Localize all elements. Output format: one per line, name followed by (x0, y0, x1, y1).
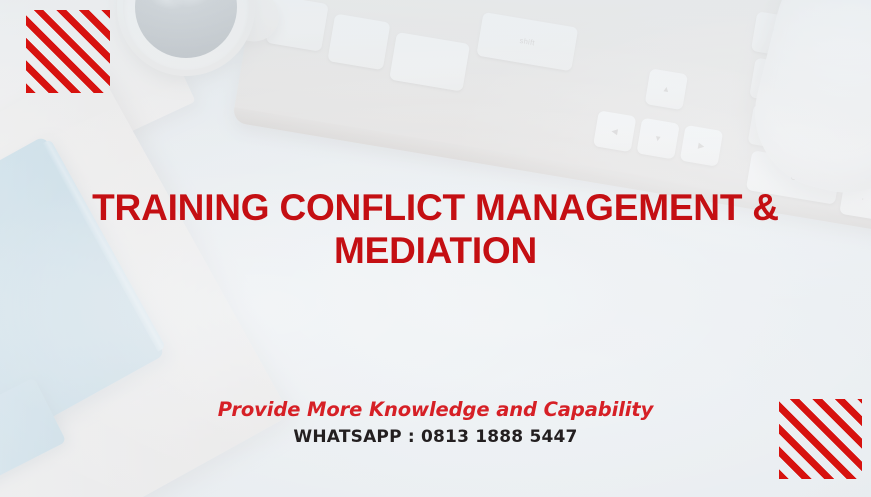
promo-banner: shift▲◀▼▶789−456+1230.enter Work at Home (0, 0, 871, 497)
diagonal-stripes-top-left (26, 10, 110, 93)
tagline: Provide More Knowledge and Capability (0, 398, 871, 421)
headline-line-1: TRAINING CONFLICT MANAGEMENT & (36, 186, 835, 229)
whatsapp-contact: WHATSAPP : 0813 1888 5447 (0, 427, 871, 447)
headline-line-2: MEDIATION (36, 229, 835, 272)
headline: TRAINING CONFLICT MANAGEMENT & MEDIATION (0, 186, 871, 272)
